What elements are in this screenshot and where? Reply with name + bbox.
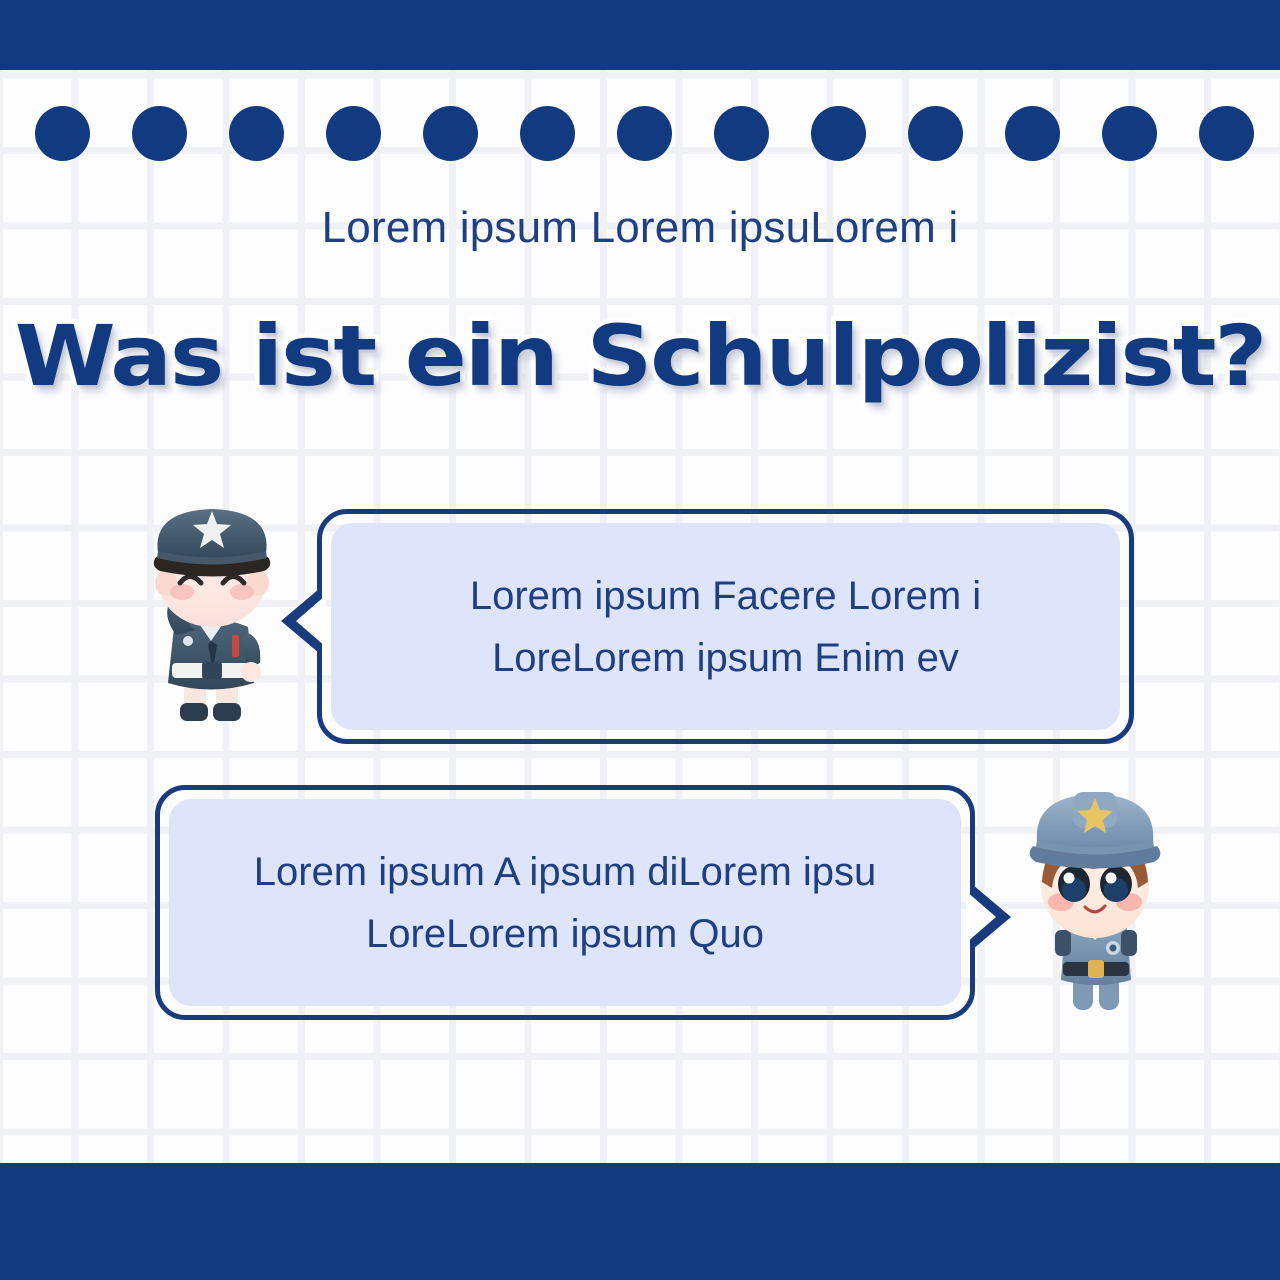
speech-bubble-officer-body: Lorem ipsum Facere Lorem i LoreLorem ips… [331,523,1120,730]
bubble-line: LoreLorem ipsum Enim ev [470,627,981,689]
page-title: Was ist ein Schulpolizist? [0,300,1280,412]
top-banner-bar [0,0,1280,70]
circle-dot-icon [714,106,769,161]
circle-dot-icon [1199,106,1254,161]
poster-canvas: Lorem ipsum Lorem ipsuLorem i Was ist ei… [0,0,1280,1280]
circle-dot-icon [229,106,284,161]
school-police-kid-illustration [995,780,1195,1030]
bubble-tail-left-inner-icon [296,595,326,647]
page-subtitle: Lorem ipsum Lorem ipsuLorem i [0,198,1280,258]
bubble-line: LoreLorem ipsum Quo [254,903,877,965]
bottom-banner-bar [0,1163,1280,1280]
circle-dot-icon [1005,106,1060,161]
circle-dot-icon [1102,106,1157,161]
speech-bubble-officer: Lorem ipsum Facere Lorem i LoreLorem ips… [317,509,1134,744]
dot-row [0,106,1280,164]
circle-dot-icon [132,106,187,161]
speech-bubble-kid-text: Lorem ipsum A ipsum diLorem ipsu LoreLor… [220,841,911,965]
circle-dot-icon [811,106,866,161]
speech-bubble-kid: Lorem ipsum A ipsum diLorem ipsu LoreLor… [155,785,975,1020]
bubble-line: Lorem ipsum Facere Lorem i [470,565,981,627]
speech-bubble-officer-text: Lorem ipsum Facere Lorem i LoreLorem ips… [436,565,1015,689]
school-police-kid-icon [995,780,1195,1030]
circle-dot-icon [520,106,575,161]
circle-dot-icon [617,106,672,161]
speech-bubble-kid-body: Lorem ipsum A ipsum diLorem ipsu LoreLor… [169,799,961,1006]
circle-dot-icon [326,106,381,161]
circle-dot-icon [423,106,478,161]
bubble-tail-right-inner-icon [966,891,996,943]
circle-dot-icon [35,106,90,161]
circle-dot-icon [908,106,963,161]
bubble-line: Lorem ipsum A ipsum diLorem ipsu [254,841,877,903]
